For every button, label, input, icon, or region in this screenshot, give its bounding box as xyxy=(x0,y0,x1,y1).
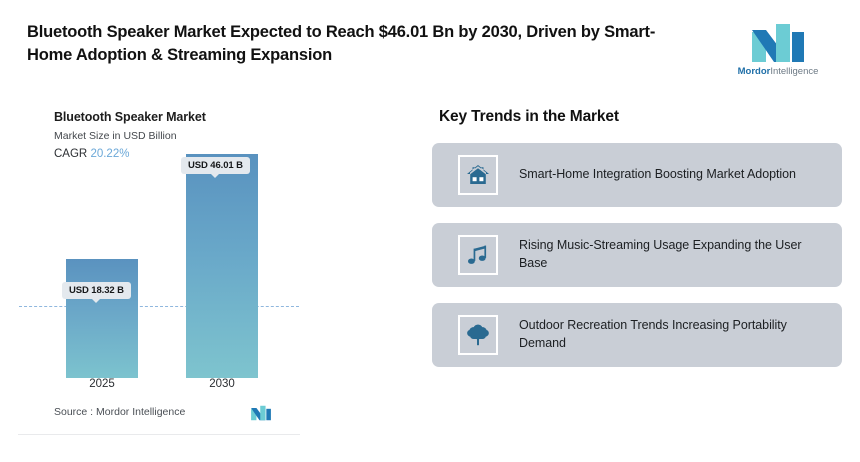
bar-2030[interactable] xyxy=(186,154,258,378)
key-trends-section: Key Trends in the Market Smart-Home Inte… xyxy=(432,108,842,383)
brand-wordmark: MordorIntelligence xyxy=(718,67,838,77)
home-icon xyxy=(458,155,498,195)
trend-label: Smart-Home Integration Boosting Market A… xyxy=(519,166,796,184)
bar-2025[interactable] xyxy=(66,259,138,378)
trend-label: Outdoor Recreation Trends Increasing Por… xyxy=(519,317,828,353)
mordor-m-logo-icon xyxy=(750,22,806,64)
chart-source: Source : Mordor Intelligence xyxy=(54,406,185,418)
music-note-icon-glyph xyxy=(467,244,489,266)
music-note-icon xyxy=(458,235,498,275)
bar-value-label-2030: USD 46.01 B xyxy=(181,157,250,174)
chart-card: Bluetooth Speaker Market Market Size in … xyxy=(18,98,300,435)
tree-icon-glyph xyxy=(466,323,490,347)
brand-name-light: Intelligence xyxy=(770,66,818,77)
brand-logo: MordorIntelligence xyxy=(718,22,838,84)
x-axis-tick-2030: 2030 xyxy=(186,378,258,390)
page-title: Bluetooth Speaker Market Expected to Rea… xyxy=(27,21,677,67)
tree-icon xyxy=(458,315,498,355)
bar-value-label-2025: USD 18.32 B xyxy=(62,282,131,299)
brand-name-bold: Mordor xyxy=(738,66,771,77)
key-trends-title: Key Trends in the Market xyxy=(439,108,842,126)
trend-card-smart-home[interactable]: Smart-Home Integration Boosting Market A… xyxy=(432,143,842,207)
home-icon-glyph xyxy=(466,164,490,186)
trend-card-outdoor-recreation[interactable]: Outdoor Recreation Trends Increasing Por… xyxy=(432,303,842,367)
trend-card-music-streaming[interactable]: Rising Music-Streaming Usage Expanding t… xyxy=(432,223,842,287)
chart-plot-area: USD 18.32 B USD 46.01 B 2025 2030 xyxy=(18,98,300,434)
trend-label: Rising Music-Streaming Usage Expanding t… xyxy=(519,237,828,273)
x-axis-tick-2025: 2025 xyxy=(66,378,138,390)
page-header: Bluetooth Speaker Market Expected to Rea… xyxy=(0,0,860,92)
source-mordor-m-logo-icon xyxy=(250,405,272,421)
